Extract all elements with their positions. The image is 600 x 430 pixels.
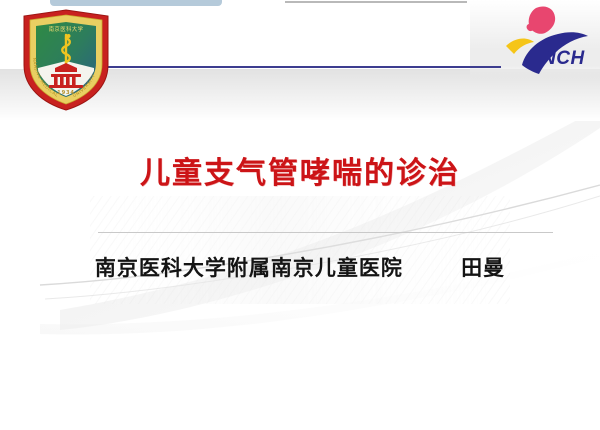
subtitle-divider-rule	[98, 232, 553, 233]
svg-text:1934: 1934	[57, 90, 75, 96]
nanjing-medical-university-logo-icon: 南京医科大学 1934 NANJING MEDICAL UNIVERSI	[18, 8, 114, 112]
svg-text:南京医科大学: 南京医科大学	[49, 25, 84, 33]
page-title: 儿童支气管哮喘的诊治	[0, 148, 600, 192]
presentation-title-slide: 南京医科大学 1934 NANJING MEDICAL UNIVERSI	[0, 0, 600, 430]
nch-logo-text: NCH	[542, 48, 585, 70]
top-blue-chip	[50, 0, 222, 6]
subtitle-affiliation-author: 南京医科大学附属南京儿童医院 田曼	[0, 252, 600, 282]
header-navy-rule	[107, 66, 501, 68]
top-gray-line	[285, 1, 467, 3]
